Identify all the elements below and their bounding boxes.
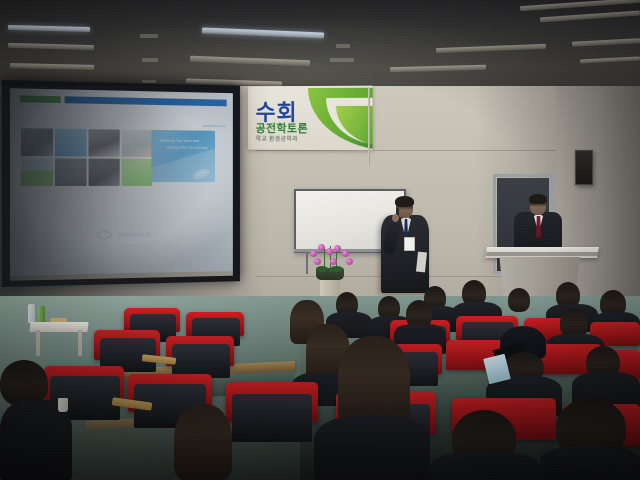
green-bottle [38, 306, 45, 323]
presenter-hair [529, 194, 547, 204]
audience-shoulders [314, 416, 430, 480]
whiteboard-leg [306, 252, 308, 274]
orchid-bloom [330, 258, 337, 265]
auditorium-seat-back [232, 394, 312, 442]
ceiling-vent [140, 34, 158, 38]
orchid-bloom [310, 250, 317, 257]
audience-head [174, 404, 232, 480]
speaker-hand [392, 214, 399, 222]
speaker-name-badge [404, 237, 415, 251]
paper-cup [58, 398, 68, 412]
wall-speaker-icon [575, 150, 593, 185]
audience-shoulders [540, 446, 640, 480]
side-table-leg [36, 330, 40, 356]
audience-head [338, 336, 410, 428]
orchid-bloom [342, 250, 349, 257]
side-table-leg [78, 330, 82, 356]
orchid-bloom [318, 244, 325, 251]
audience-shoulders [0, 400, 72, 480]
orchid-leaf [330, 266, 343, 272]
audience-shoulders [430, 452, 540, 480]
auditorium-seat-back [172, 344, 230, 378]
orchid-bloom [346, 258, 353, 265]
ceiling-vent [336, 44, 350, 48]
presenter-tie [536, 216, 541, 238]
audience-head [508, 288, 530, 312]
seminar-room-photo: 수회 공전학토론 학교 환경공학과 www.kapec.com Deliveri… [0, 0, 640, 480]
water-bottle [28, 304, 35, 323]
banner-pole [368, 88, 370, 166]
podium-edge [486, 252, 599, 256]
ceiling-vent [330, 58, 354, 62]
speaker-hair [395, 196, 414, 207]
orchid-leaf [316, 266, 328, 272]
orchid-bloom [326, 248, 333, 255]
orchid-bloom [314, 258, 321, 265]
ceiling-vent [142, 58, 158, 62]
orchid-bloom [334, 245, 341, 252]
